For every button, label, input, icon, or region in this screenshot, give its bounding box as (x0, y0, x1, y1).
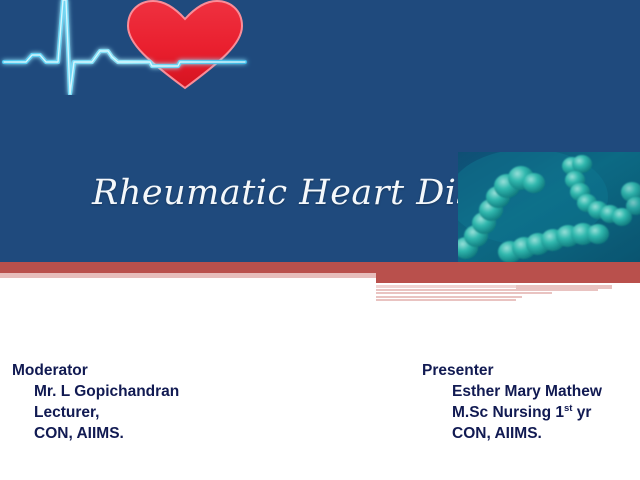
divider-stripe-4 (376, 296, 522, 298)
presentation-slide: Rheumatic Heart Dis (0, 0, 640, 480)
moderator-block: Moderator Mr. L Gopichandran Lecturer, C… (12, 360, 179, 444)
presenter-name: Esther Mary Mathew (422, 381, 602, 402)
presenter-block: Presenter Esther Mary Mathew M.Sc Nursin… (422, 360, 602, 444)
presenter-institution: CON, AIIMS. (422, 423, 602, 444)
presenter-course-prefix: M.Sc Nursing 1 (452, 404, 564, 421)
divider-stripe-2 (376, 289, 598, 291)
moderator-heading: Moderator (12, 360, 179, 381)
heart-icon (128, 1, 242, 88)
presenter-course-year-unit: yr (572, 404, 591, 421)
page-title: Rheumatic Heart Dis (92, 173, 475, 213)
divider-stripe-6 (516, 285, 612, 289)
moderator-institution: CON, AIIMS. (12, 423, 179, 444)
slide-header-banner: Rheumatic Heart Dis (0, 0, 640, 262)
divider-stripe-3 (376, 292, 552, 294)
ecg-heartbeat-icon (0, 0, 280, 95)
divider-stripe-5 (376, 299, 516, 301)
moderator-name: Mr. L Gopichandran (12, 381, 179, 402)
presenter-heading: Presenter (422, 360, 602, 381)
moderator-designation: Lecturer, (12, 402, 179, 423)
divider-band-red (0, 262, 640, 273)
divider-band-red-right (376, 273, 640, 283)
streptococcus-bacteria-image (458, 152, 640, 262)
presenter-course: M.Sc Nursing 1st yr (422, 402, 602, 423)
divider-band-pink (0, 273, 376, 278)
